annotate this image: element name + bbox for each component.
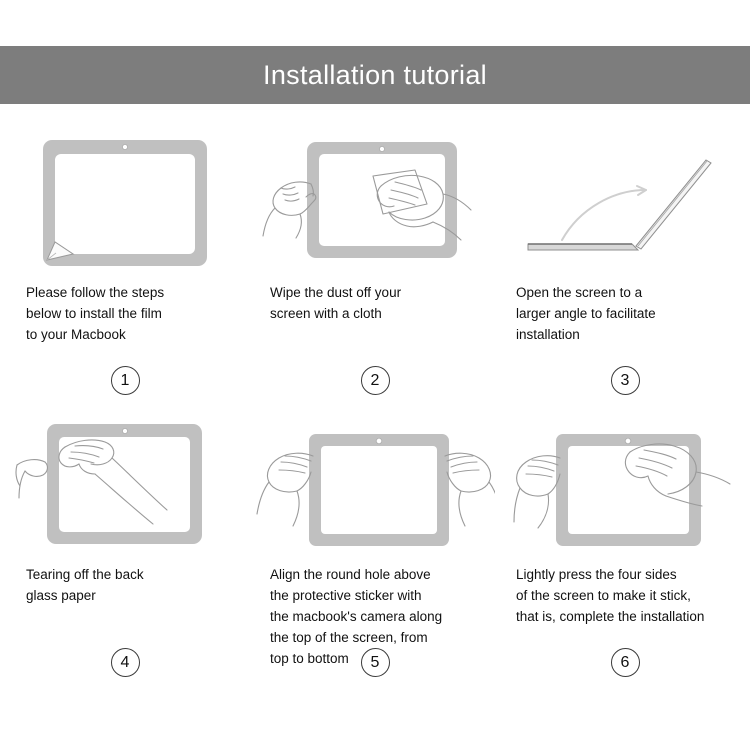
hand-pressing-film-onto-screen-icon bbox=[508, 414, 743, 554]
step-number-badge: 4 bbox=[111, 648, 140, 677]
step-number-badge: 3 bbox=[611, 366, 640, 395]
hands-tearing-off-backing-paper-icon bbox=[15, 414, 235, 554]
step-5-number-wrap: 5 bbox=[250, 648, 500, 677]
two-hands-aligning-film-on-screen-icon bbox=[255, 414, 495, 554]
step-card-3: Open the screen to a larger angle to fac… bbox=[500, 128, 750, 410]
step-6-number-wrap: 6 bbox=[500, 648, 750, 677]
step-6-illustration bbox=[500, 410, 750, 558]
steps-grid: Please follow the steps below to install… bbox=[0, 128, 750, 692]
step-2-caption: Wipe the dust off your screen with a clo… bbox=[250, 282, 500, 324]
step-card-4: Tearing off the back glass paper 4 bbox=[0, 410, 250, 692]
step-card-5: Align the round hole above the protectiv… bbox=[250, 410, 500, 692]
step-3-number-wrap: 3 bbox=[500, 366, 750, 395]
header-banner: Installation tutorial bbox=[0, 46, 750, 104]
step-card-6: Lightly press the four sides of the scre… bbox=[500, 410, 750, 692]
step-3-illustration bbox=[500, 128, 750, 276]
step-1-caption: Please follow the steps below to install… bbox=[0, 282, 250, 345]
page-title: Installation tutorial bbox=[263, 62, 487, 89]
step-3-caption: Open the screen to a larger angle to fac… bbox=[500, 282, 750, 345]
step-card-1: Please follow the steps below to install… bbox=[0, 128, 250, 410]
step-card-2: Wipe the dust off your screen with a clo… bbox=[250, 128, 500, 410]
step-2-number-wrap: 2 bbox=[250, 366, 500, 395]
step-1-number-wrap: 1 bbox=[0, 366, 250, 395]
macbook-screen-with-peeling-film-corner-icon bbox=[25, 132, 225, 272]
installation-tutorial-page: Installation tutorial Please follow the … bbox=[0, 0, 750, 750]
step-number-badge: 6 bbox=[611, 648, 640, 677]
step-4-illustration bbox=[0, 410, 250, 558]
step-number-badge: 5 bbox=[361, 648, 390, 677]
step-2-illustration bbox=[250, 128, 500, 276]
step-4-caption: Tearing off the back glass paper bbox=[0, 564, 250, 606]
step-number-badge: 2 bbox=[361, 366, 390, 395]
step-4-number-wrap: 4 bbox=[0, 648, 250, 677]
step-5-illustration bbox=[250, 410, 500, 558]
laptop-side-view-opening-screen-icon bbox=[510, 132, 740, 272]
step-1-illustration bbox=[0, 128, 250, 276]
hand-wiping-screen-with-cloth-icon bbox=[255, 132, 495, 272]
step-6-caption: Lightly press the four sides of the scre… bbox=[500, 564, 750, 627]
step-number-badge: 1 bbox=[111, 366, 140, 395]
